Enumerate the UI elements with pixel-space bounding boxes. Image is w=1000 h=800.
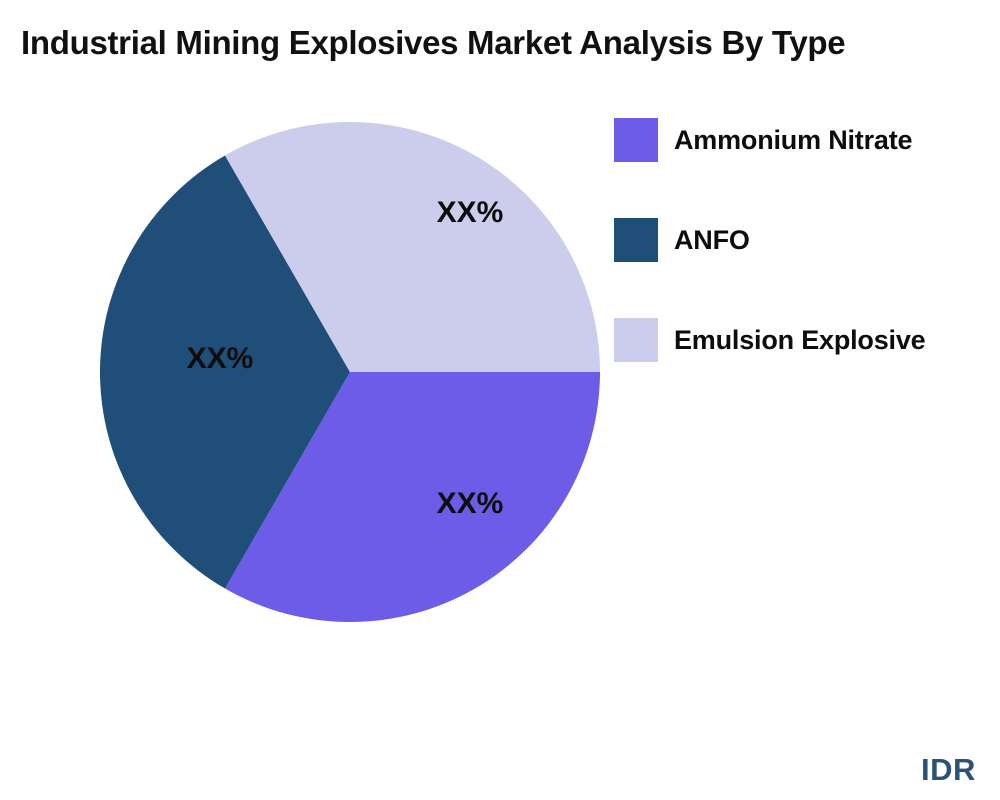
pie-slice-label-ammonium-nitrate: XX% <box>437 487 504 521</box>
legend-swatch-icon-ammonium-nitrate <box>614 118 658 162</box>
legend-item-anfo[interactable]: ANFO <box>614 218 1000 262</box>
pie-slice-label-anfo: XX% <box>187 342 254 376</box>
chart-legend: Ammonium Nitrate ANFO Emulsion Explosive <box>614 118 1000 418</box>
legend-label-emulsion-explosive: Emulsion Explosive <box>674 325 925 356</box>
legend-swatch-icon-emulsion-explosive <box>614 318 658 362</box>
pie-slice-group <box>100 122 600 622</box>
pie-slice-label-emulsion-explosive: XX% <box>437 196 504 230</box>
legend-swatch-icon-anfo <box>614 218 658 262</box>
legend-label-anfo: ANFO <box>674 225 750 256</box>
brand-watermark: IDR <box>921 752 976 788</box>
chart-canvas: Industrial Mining Explosives Market Anal… <box>0 0 1000 800</box>
legend-label-ammonium-nitrate: Ammonium Nitrate <box>674 125 912 156</box>
legend-item-ammonium-nitrate[interactable]: Ammonium Nitrate <box>614 118 1000 162</box>
legend-item-emulsion-explosive[interactable]: Emulsion Explosive <box>614 318 1000 362</box>
